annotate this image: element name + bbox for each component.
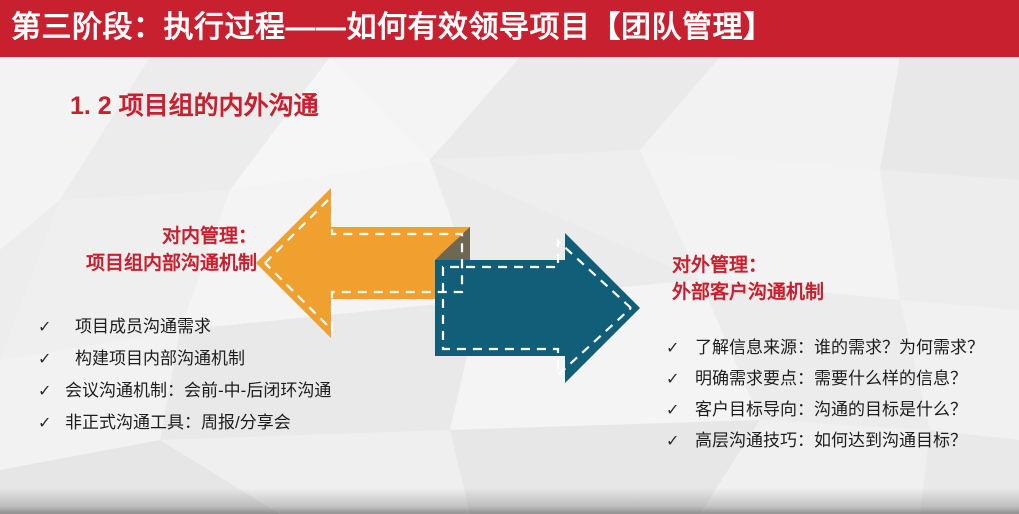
list-item-label: 了解信息来源：谁的需求？为何需求？	[681, 333, 984, 358]
page-title: 第三阶段：执行过程——如何有效领导项目【团队管理】	[11, 5, 774, 51]
check-icon: ✓	[38, 416, 53, 432]
list-item: ✓ 客户目标导向：沟通的目标是什么？	[666, 395, 984, 426]
external-heading-line2: 外部客户沟通机制	[672, 279, 824, 306]
internal-heading-line1: 对内管理：	[0, 223, 257, 250]
internal-bullet-list: ✓ 项目成员沟通需求 ✓ 构建项目内部沟通机制 ✓ 会议沟通机制：会前-中-后闭…	[38, 312, 331, 440]
list-item-label: 高层沟通技巧：如何达到沟通目标？	[681, 426, 967, 451]
external-bullet-list: ✓ 了解信息来源：谁的需求？为何需求？ ✓ 明确需求要点：需要什么样的信息？ ✓…	[666, 333, 984, 457]
check-icon: ✓	[666, 434, 681, 450]
list-item-label: 构建项目内部沟通机制	[53, 344, 245, 369]
external-heading-line1: 对外管理：	[672, 252, 824, 279]
list-item-label: 会议沟通机制：会前-中-后闭环沟通	[53, 376, 331, 401]
title-banner: 第三阶段：执行过程——如何有效领导项目【团队管理】	[0, 0, 1019, 57]
list-item: ✓ 构建项目内部沟通机制	[38, 344, 331, 376]
list-item: ✓ 高层沟通技巧：如何达到沟通目标？	[666, 426, 984, 457]
list-item: ✓ 了解信息来源：谁的需求？为何需求？	[666, 333, 984, 364]
list-item-label: 明确需求要点：需要什么样的信息？	[681, 364, 967, 389]
internal-management-heading: 对内管理： 项目组内部沟通机制	[0, 223, 257, 277]
check-icon: ✓	[666, 403, 681, 419]
slide-canvas: 第三阶段：执行过程——如何有效领导项目【团队管理】 1. 2 项目组的内外沟通 …	[0, 0, 1019, 514]
list-item-label: 项目成员沟通需求	[53, 312, 211, 337]
external-management-heading: 对外管理： 外部客户沟通机制	[672, 252, 824, 306]
section-subtitle: 1. 2 项目组的内外沟通	[70, 86, 319, 122]
check-icon: ✓	[38, 384, 53, 400]
check-icon: ✓	[666, 341, 681, 357]
list-item: ✓ 明确需求要点：需要什么样的信息？	[666, 364, 984, 395]
list-item: ✓ 非正式沟通工具：周报/分享会	[38, 408, 331, 440]
check-icon: ✓	[38, 320, 53, 336]
check-icon: ✓	[38, 352, 53, 368]
list-item: ✓ 项目成员沟通需求	[38, 312, 331, 344]
list-item: ✓ 会议沟通机制：会前-中-后闭环沟通	[38, 376, 331, 408]
internal-heading-line2: 项目组内部沟通机制	[0, 250, 257, 277]
list-item-label: 客户目标导向：沟通的目标是什么？	[681, 395, 967, 420]
check-icon: ✓	[666, 372, 681, 388]
list-item-label: 非正式沟通工具：周报/分享会	[53, 408, 291, 433]
